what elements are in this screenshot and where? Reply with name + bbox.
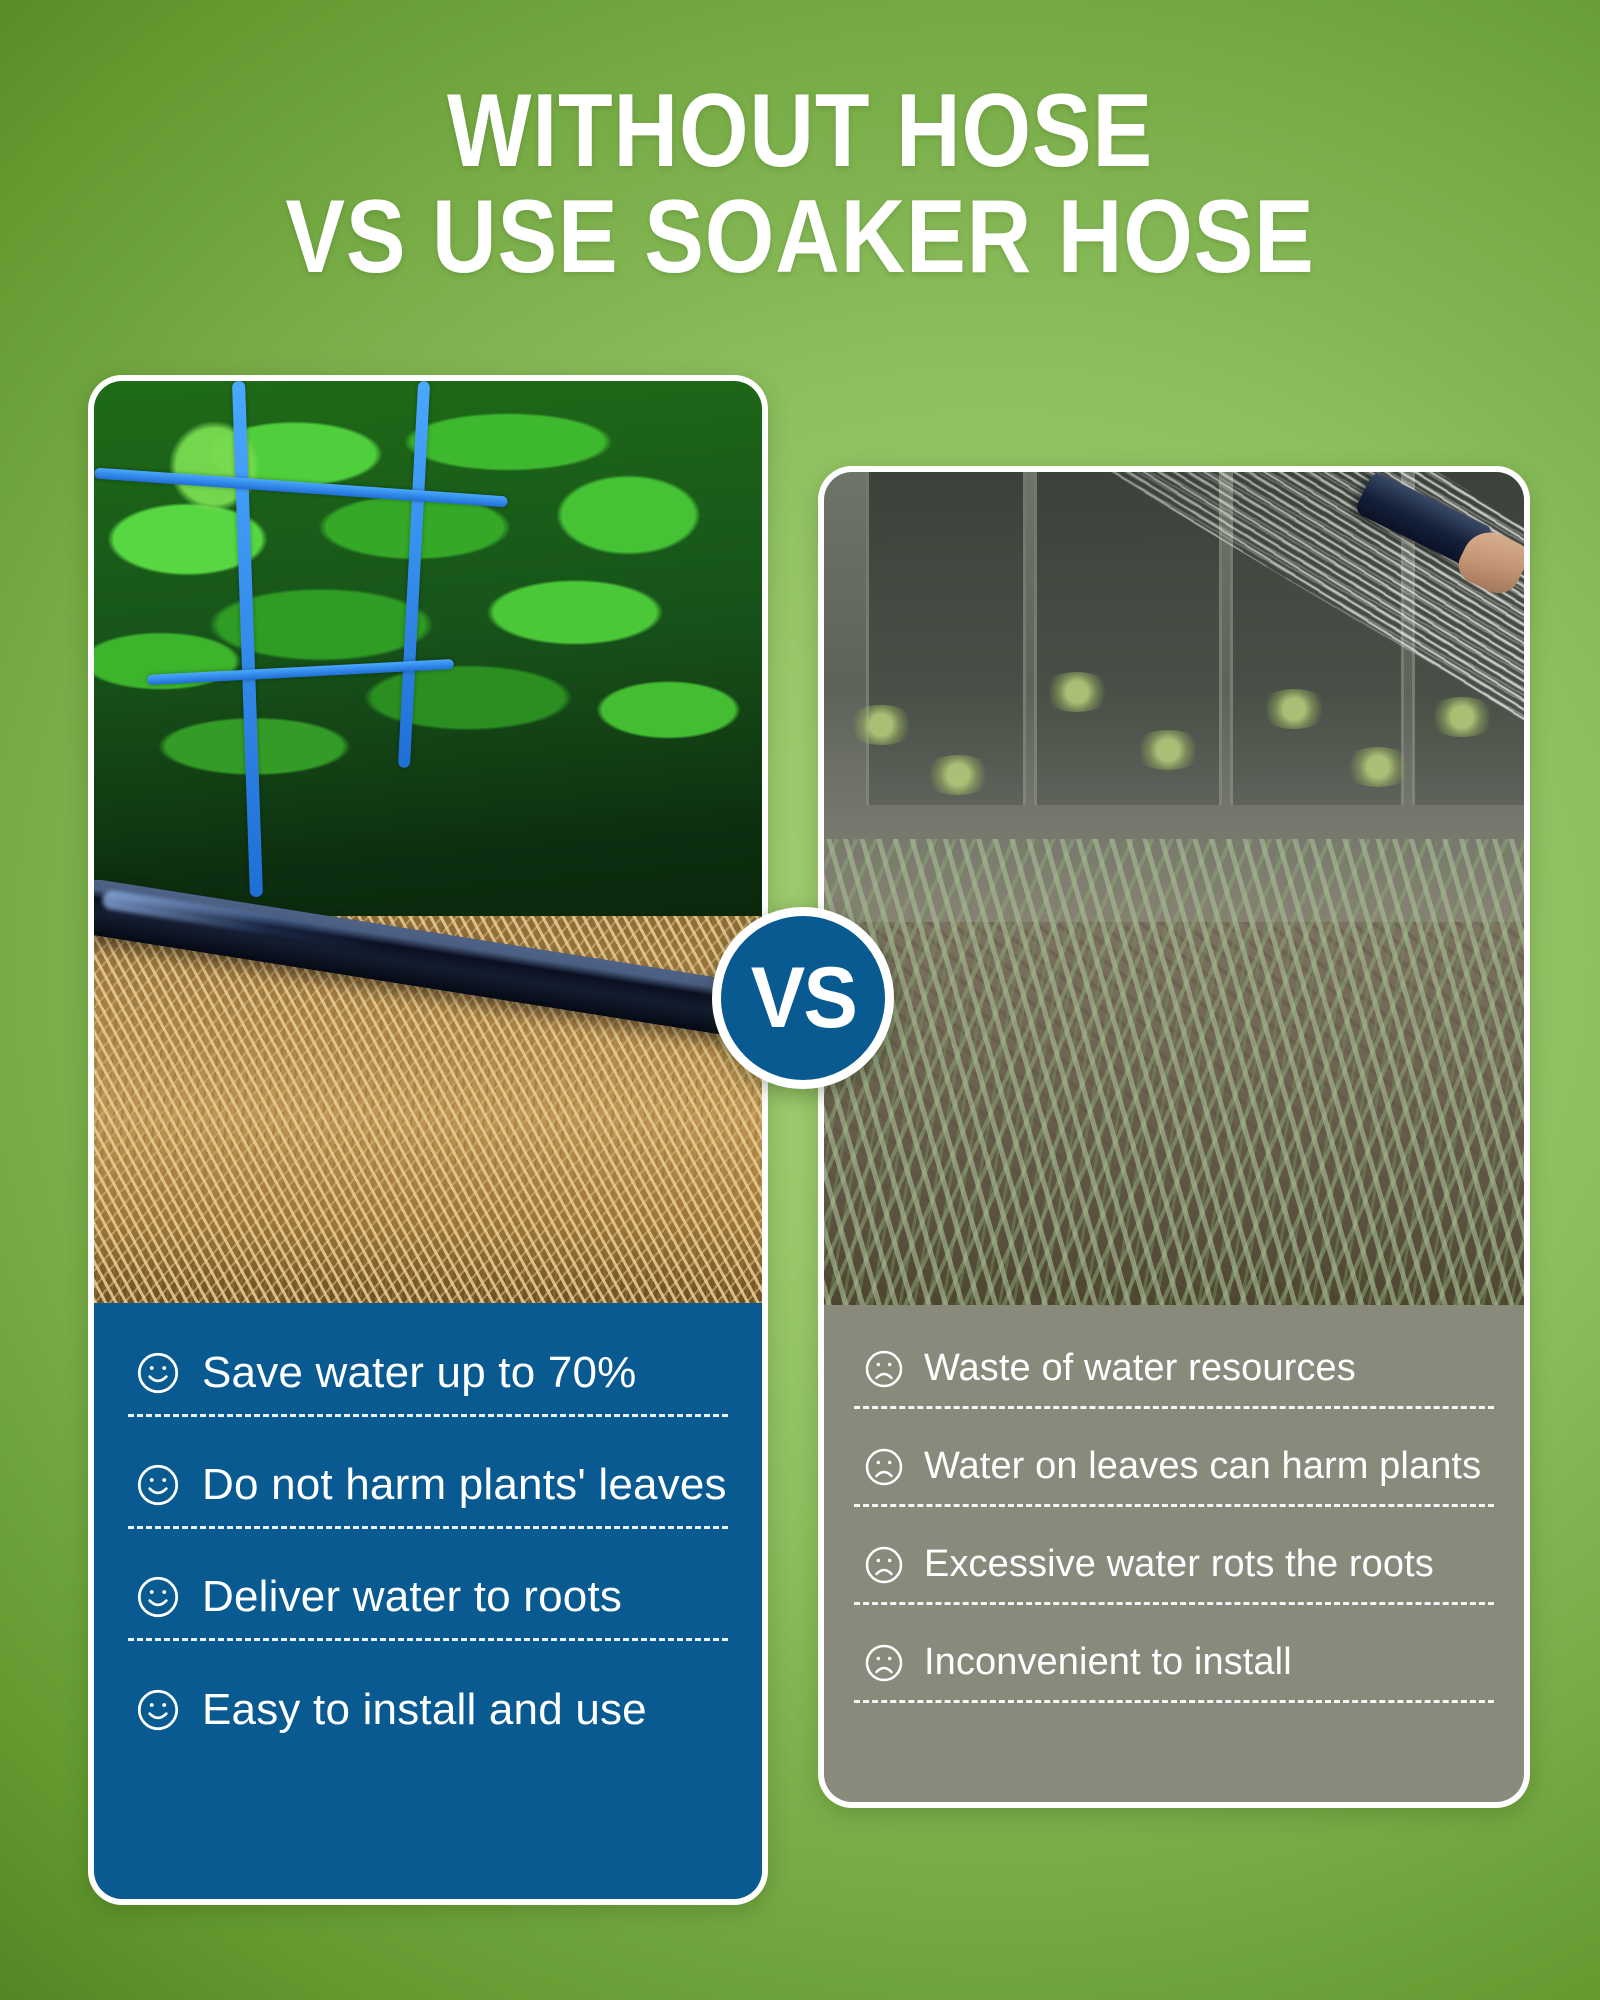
benefits-panel: Save water up to 70%Do not harm plants' …: [94, 1303, 762, 1899]
sad-face-icon: [864, 1643, 904, 1683]
list-item-label: Excessive water rots the roots: [924, 1543, 1434, 1586]
dill-flower-graphic: [1041, 672, 1113, 712]
onion-greens-graphic: [824, 839, 1524, 1305]
list-separator: [854, 1605, 1494, 1625]
list-item-label: Do not harm plants' leaves: [202, 1460, 727, 1510]
dill-flower-graphic: [1426, 697, 1498, 737]
list-item-label: Waste of water resources: [924, 1347, 1356, 1390]
sad-face-icon: [864, 1447, 904, 1487]
title-line-1: WITHOUT HOSE: [112, 78, 1488, 184]
benefits-list: Save water up to 70%Do not harm plants' …: [94, 1303, 762, 1753]
list-item-label: Easy to install and use: [202, 1685, 647, 1735]
list-item: Do not harm plants' leaves: [128, 1443, 728, 1529]
list-separator: [854, 1507, 1494, 1527]
dill-flower-graphic: [1342, 747, 1414, 787]
list-item: Easy to install and use: [128, 1667, 728, 1753]
list-item: Water on leaves can harm plants: [854, 1429, 1494, 1507]
list-item: Deliver water to roots: [128, 1555, 728, 1641]
list-separator: [128, 1417, 728, 1443]
list-item-label: Save water up to 70%: [202, 1348, 636, 1398]
list-item: Inconvenient to install: [854, 1625, 1494, 1703]
list-item-label: Water on leaves can harm plants: [924, 1445, 1481, 1488]
list-separator: [854, 1703, 1494, 1723]
list-separator: [128, 1529, 728, 1555]
soaker-hose-photo: [94, 381, 762, 1303]
dill-flower-graphic: [845, 705, 917, 745]
list-separator: [128, 1641, 728, 1667]
smiley-face-icon: [136, 1688, 180, 1732]
vs-badge: VS: [712, 907, 894, 1089]
poster-root: WITHOUT HOSE VS USE SOAKER HOSE Save wat…: [0, 0, 1600, 2000]
sad-face-icon: [864, 1545, 904, 1585]
list-item-label: Inconvenient to install: [924, 1641, 1292, 1684]
comparison-card-spray-hose: Waste of water resourcesWater on leaves …: [818, 466, 1530, 1808]
comparison-card-soaker-hose: Save water up to 70%Do not harm plants' …: [88, 375, 768, 1905]
smiley-face-icon: [136, 1463, 180, 1507]
dill-flower-graphic: [1258, 689, 1330, 729]
smiley-face-icon: [136, 1351, 180, 1395]
sad-face-icon: [864, 1349, 904, 1389]
spray-watering-photo: [824, 472, 1524, 1305]
title-line-2: VS USE SOAKER HOSE: [112, 184, 1488, 290]
list-item: Excessive water rots the roots: [854, 1527, 1494, 1605]
list-separator: [854, 1409, 1494, 1429]
smiley-face-icon: [136, 1575, 180, 1619]
dill-flower-graphic: [922, 755, 994, 795]
vs-badge-label: VS: [750, 955, 855, 1041]
drawbacks-panel: Waste of water resourcesWater on leaves …: [824, 1305, 1524, 1802]
drawbacks-list: Waste of water resourcesWater on leaves …: [824, 1305, 1524, 1723]
dill-flower-graphic: [1132, 730, 1204, 770]
list-item: Save water up to 70%: [128, 1331, 728, 1417]
page-title: WITHOUT HOSE VS USE SOAKER HOSE: [0, 78, 1600, 290]
list-item: Waste of water resources: [854, 1331, 1494, 1409]
list-item-label: Deliver water to roots: [202, 1572, 622, 1622]
